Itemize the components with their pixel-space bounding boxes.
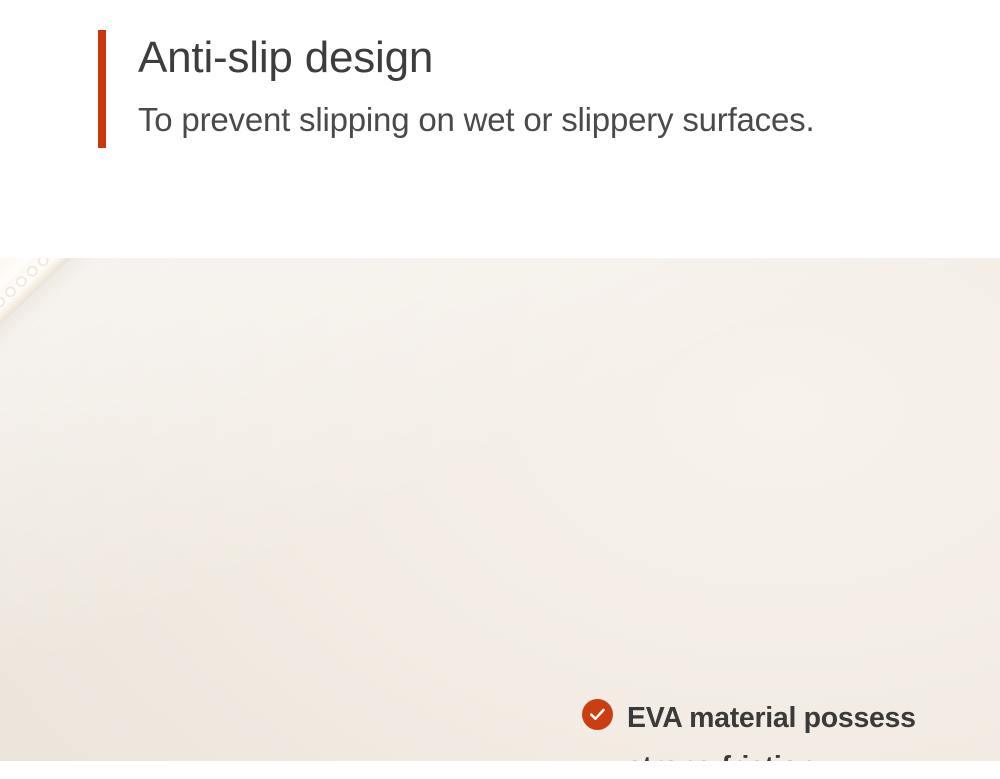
footer-white-strip [0, 761, 1000, 779]
header-section: Anti-slip design To prevent slipping on … [0, 0, 1000, 258]
page-subtitle: To prevent slipping on wet or slippery s… [138, 100, 814, 140]
page-title: Anti-slip design [138, 33, 433, 84]
product-photo: MADE IN EVA material possess strong fric… [0, 258, 1000, 761]
product-feature-banner: Anti-slip design To prevent slipping on … [0, 0, 1000, 779]
list-item: EVA material possess strong friction [582, 694, 962, 761]
accent-bar [98, 30, 106, 148]
check-circle-icon [582, 699, 613, 730]
feature-list: EVA material possess strong friction Non… [582, 694, 962, 761]
feature-label: EVA material possess strong friction [627, 694, 962, 761]
photo-backdrop [0, 258, 1000, 761]
